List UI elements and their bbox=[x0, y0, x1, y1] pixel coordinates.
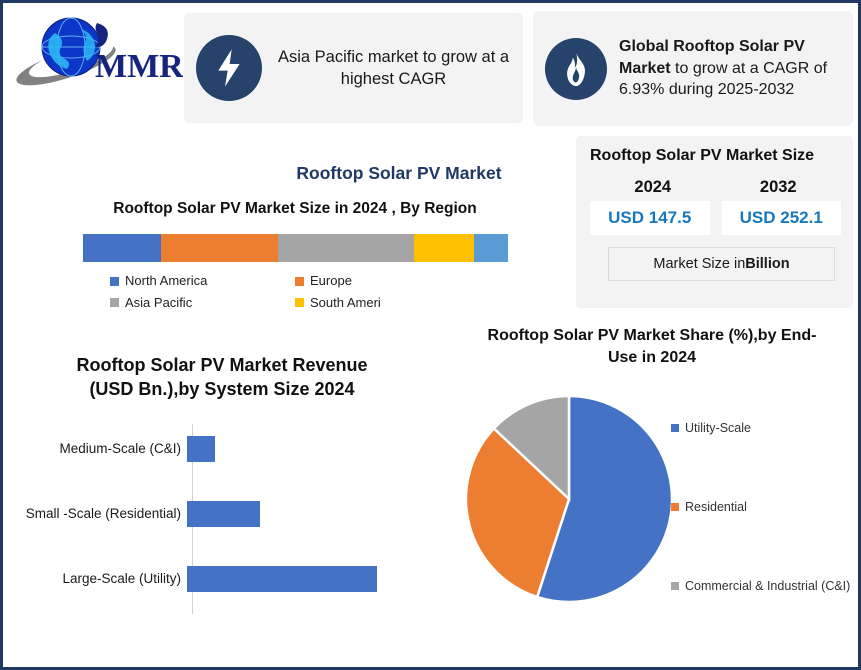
region-segment bbox=[474, 234, 508, 262]
page-title: Rooftop Solar PV Market bbox=[239, 163, 559, 184]
legend-swatch bbox=[110, 277, 119, 286]
end-use-chart-title: Rooftop Solar PV Market Share (%),by End… bbox=[487, 325, 817, 370]
legend-swatch bbox=[671, 503, 679, 511]
infographic-page: MMR Asia Pacific market to grow at a hig… bbox=[0, 0, 861, 670]
unit-note-prefix: Market Size in bbox=[653, 256, 745, 272]
region-segment bbox=[161, 234, 278, 262]
region-legend-item: Europe bbox=[295, 270, 480, 291]
region-legend-item: North America bbox=[110, 270, 295, 291]
end-use-chart: Rooftop Solar PV Market Share (%),by End… bbox=[443, 325, 861, 665]
year-value: USD 147.5 bbox=[608, 208, 691, 228]
end-use-legend-item: Commercial & Industrial (C&I) bbox=[671, 578, 861, 595]
region-legend-item: Asia Pacific bbox=[110, 292, 295, 313]
market-size-title: Rooftop Solar PV Market Size bbox=[590, 146, 841, 167]
region-legend-item: South Ameri bbox=[295, 292, 480, 313]
end-use-pie bbox=[463, 393, 678, 615]
region-segment bbox=[83, 234, 162, 262]
year-value-box: USD 252.1 bbox=[722, 201, 842, 235]
system-size-row: Large-Scale (Utility) bbox=[7, 564, 437, 594]
end-use-legend-item: Residential bbox=[671, 499, 861, 516]
system-size-bar bbox=[187, 436, 215, 462]
legend-swatch bbox=[671, 424, 679, 432]
unit-note-unit: Billion bbox=[745, 256, 789, 272]
legend-label: Commercial & Industrial (C&I) bbox=[685, 578, 850, 595]
year-value-box: USD 147.5 bbox=[590, 201, 710, 235]
system-size-category-label: Medium-Scale (C&I) bbox=[7, 441, 187, 456]
globe-icon: MMR bbox=[11, 9, 183, 87]
legend-label: North America bbox=[125, 270, 207, 291]
highlight-card-global-cagr: Global Rooftop Solar PV Market to grow a… bbox=[533, 11, 853, 126]
lightning-bolt-icon bbox=[196, 35, 262, 101]
market-size-year-2032: 2032 USD 252.1 bbox=[716, 178, 842, 235]
region-segment bbox=[414, 234, 474, 262]
year-value: USD 252.1 bbox=[740, 208, 823, 228]
system-size-category-label: Large-Scale (Utility) bbox=[7, 571, 187, 586]
end-use-chart-legend: Utility-ScaleResidentialCommercial & Ind… bbox=[671, 420, 861, 595]
market-size-year-2024: 2024 USD 147.5 bbox=[590, 178, 716, 235]
legend-label: Residential bbox=[685, 499, 747, 516]
highlight-card-asia-pacific: Asia Pacific market to grow at a highest… bbox=[184, 13, 523, 123]
system-size-category-label: Small -Scale (Residential) bbox=[7, 506, 187, 521]
pie-svg bbox=[463, 393, 675, 605]
region-chart-title: Rooftop Solar PV Market Size in 2024 , B… bbox=[100, 198, 490, 220]
mmr-logo: MMR bbox=[11, 9, 183, 87]
region-chart-legend: North AmericaEuropeAsia PacificSouth Ame… bbox=[110, 270, 480, 313]
system-size-bar bbox=[187, 501, 260, 527]
market-size-unit-note: Market Size in Billion bbox=[608, 247, 835, 281]
flame-icon bbox=[545, 38, 607, 100]
legend-swatch bbox=[671, 582, 679, 590]
market-size-panel: Rooftop Solar PV Market Size 2024 USD 14… bbox=[576, 136, 853, 308]
highlight-card-global-text: Global Rooftop Solar PV Market to grow a… bbox=[619, 36, 843, 101]
legend-label: Asia Pacific bbox=[125, 292, 192, 313]
system-size-chart-title: Rooftop Solar PV Market Revenue (USD Bn.… bbox=[57, 353, 387, 402]
system-size-bar bbox=[187, 566, 377, 592]
legend-swatch bbox=[295, 298, 304, 307]
legend-label: Europe bbox=[310, 270, 352, 291]
region-segment bbox=[278, 234, 414, 262]
logo-text: MMR bbox=[95, 48, 183, 85]
year-label: 2024 bbox=[590, 178, 716, 197]
legend-swatch bbox=[110, 298, 119, 307]
region-chart: Rooftop Solar PV Market Size in 2024 , B… bbox=[65, 198, 525, 313]
market-size-years: 2024 USD 147.5 2032 USD 252.1 bbox=[590, 178, 841, 235]
legend-label: South Ameri bbox=[310, 292, 381, 313]
region-stacked-bar bbox=[83, 234, 508, 262]
system-size-row: Small -Scale (Residential) bbox=[7, 499, 437, 529]
highlight-card-asia-text: Asia Pacific market to grow at a highest… bbox=[274, 46, 513, 91]
end-use-legend-item: Utility-Scale bbox=[671, 420, 861, 437]
system-size-row: Medium-Scale (C&I) bbox=[7, 434, 437, 464]
system-size-plot: Medium-Scale (C&I)Small -Scale (Resident… bbox=[7, 424, 437, 614]
system-size-chart: Rooftop Solar PV Market Revenue (USD Bn.… bbox=[7, 353, 437, 663]
legend-label: Utility-Scale bbox=[685, 420, 751, 437]
year-label: 2032 bbox=[716, 178, 842, 197]
legend-swatch bbox=[295, 277, 304, 286]
